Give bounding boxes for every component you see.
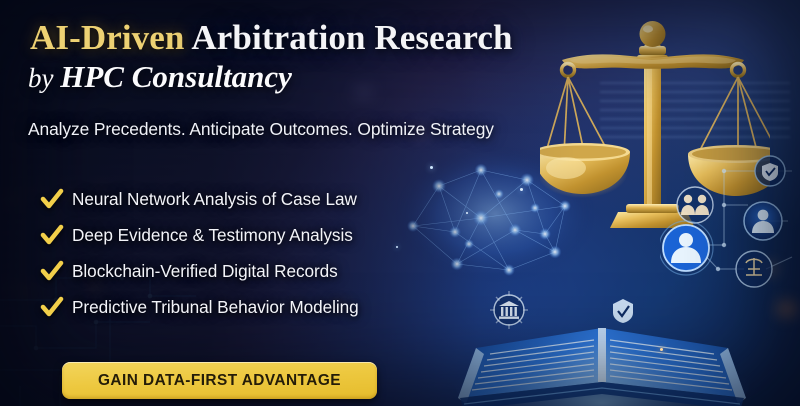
- list-item-label: Blockchain-Verified Digital Records: [72, 261, 338, 282]
- byline-prefix: by: [28, 63, 60, 93]
- banner-content: AI-Driven Arbitration Research by HPC Co…: [0, 0, 800, 406]
- list-item-label: Predictive Tribunal Behavior Modeling: [72, 297, 359, 318]
- check-icon: [40, 223, 64, 247]
- byline: by HPC Consultancy: [28, 59, 292, 95]
- cta-button[interactable]: GAIN DATA-FIRST ADVANTAGE: [62, 362, 377, 399]
- page-title: AI-Driven Arbitration Research: [30, 18, 513, 58]
- check-icon: [40, 187, 64, 211]
- feature-list: Neural Network Analysis of Case Law Deep…: [40, 181, 359, 325]
- list-item: Deep Evidence & Testimony Analysis: [40, 217, 359, 253]
- byline-company: HPC Consultancy: [60, 59, 292, 94]
- list-item-label: Neural Network Analysis of Case Law: [72, 189, 357, 210]
- check-icon: [40, 259, 64, 283]
- list-item: Predictive Tribunal Behavior Modeling: [40, 289, 359, 325]
- page-title-highlight: AI-Driven: [30, 18, 185, 57]
- list-item: Blockchain-Verified Digital Records: [40, 253, 359, 289]
- promo-banner: AI-Driven Arbitration Research by HPC Co…: [0, 0, 800, 406]
- tagline: Analyze Precedents. Anticipate Outcomes.…: [28, 119, 494, 140]
- list-item: Neural Network Analysis of Case Law: [40, 181, 359, 217]
- check-icon: [40, 295, 64, 319]
- page-title-rest: Arbitration Research: [185, 18, 513, 57]
- list-item-label: Deep Evidence & Testimony Analysis: [72, 225, 353, 246]
